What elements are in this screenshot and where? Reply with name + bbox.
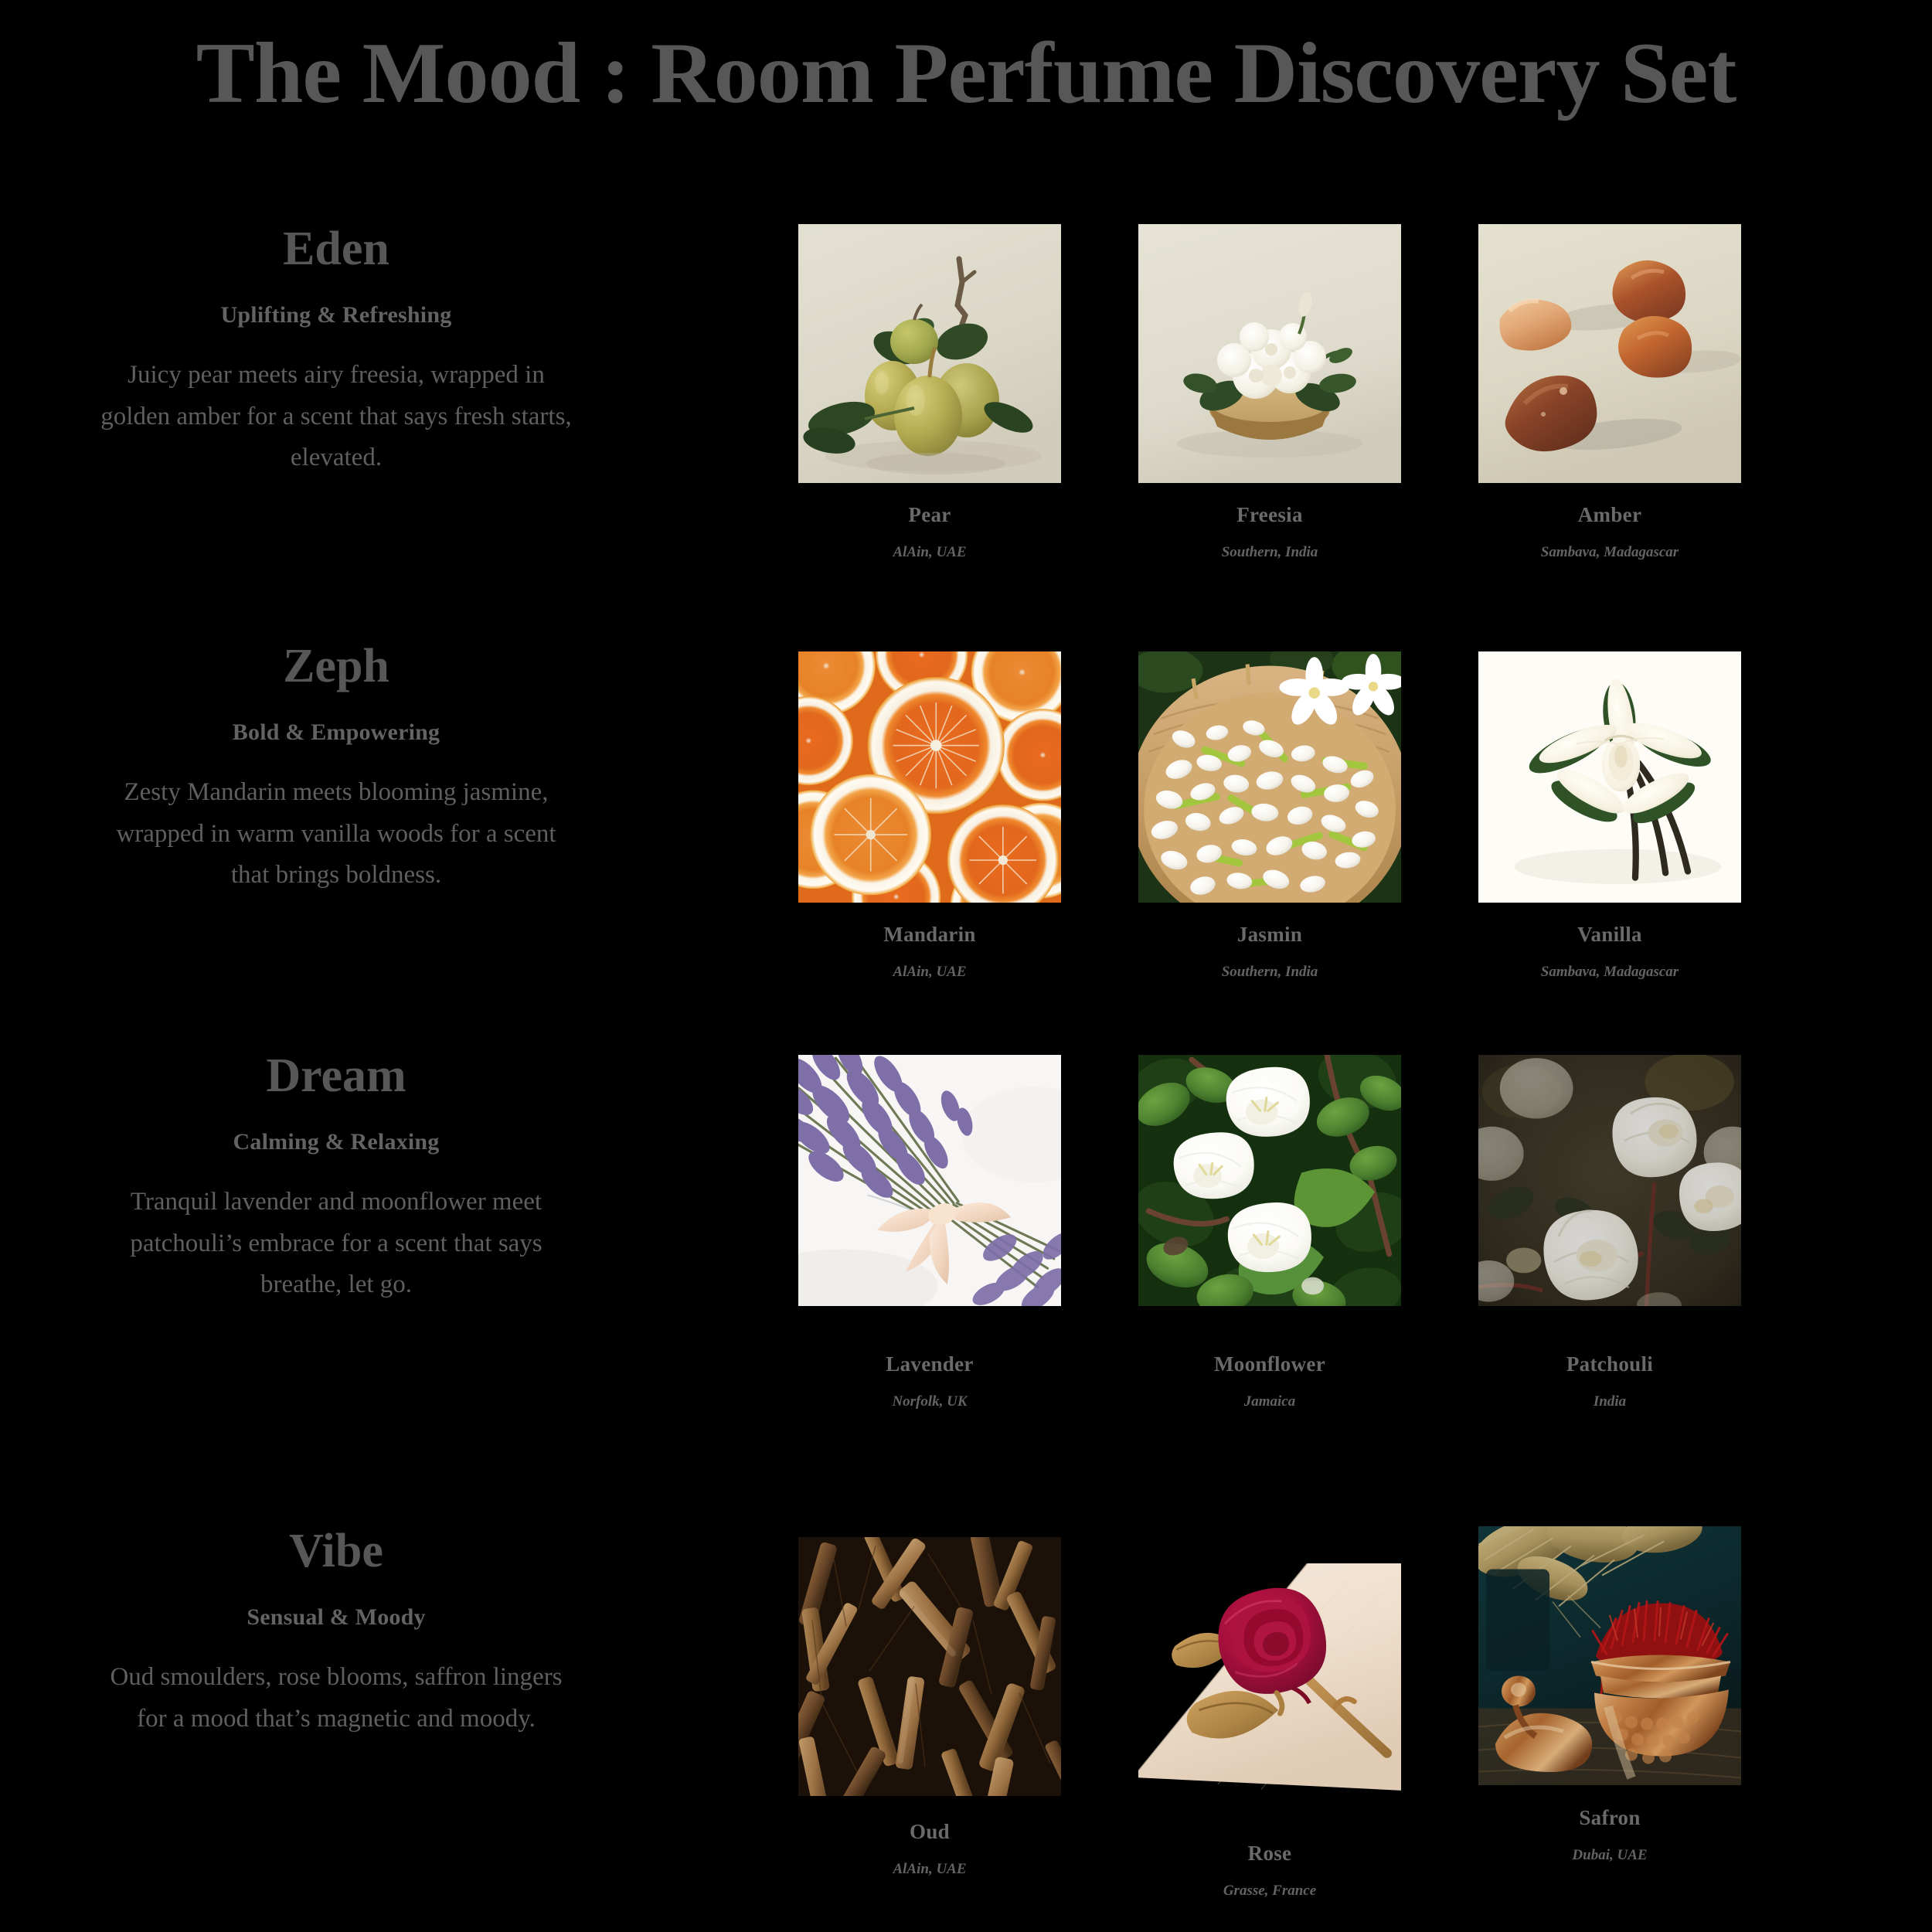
- white-freesia-bowl-photo: [1138, 224, 1401, 483]
- note-origin: AlAin, UAE: [798, 964, 1061, 981]
- note-image-vanilla: [1478, 651, 1741, 903]
- vanilla-orchid-pods-photo: [1478, 651, 1741, 903]
- red-rose-on-linen-photo: [1138, 1563, 1401, 1822]
- note-origin: Southern, India: [1138, 544, 1401, 561]
- note-name: Amber: [1478, 503, 1741, 527]
- mood-text-block: Eden Uplifting & Refreshing Juicy pear m…: [81, 224, 591, 478]
- note-image-rose: [1138, 1563, 1401, 1826]
- note-name: Jasmin: [1138, 923, 1401, 947]
- note-image-mandarin: [798, 651, 1061, 903]
- note-tile[interactable]: Vanilla Sambava, Madagascar: [1478, 651, 1741, 981]
- note-origin: AlAin, UAE: [798, 1861, 1061, 1878]
- orange-slices-photo: [798, 651, 1061, 903]
- note-name: Freesia: [1138, 503, 1401, 527]
- note-image-lavender: [798, 1055, 1061, 1306]
- note-origin: Sambava, Madagascar: [1478, 964, 1741, 981]
- saffron-copper-pot-photo: [1478, 1526, 1741, 1785]
- white-roses-moody-photo: [1478, 1055, 1741, 1306]
- note-tile[interactable]: Patchouli India: [1478, 1055, 1741, 1410]
- mood-description: Oud smoulders, rose blooms, saffron ling…: [81, 1657, 591, 1740]
- note-tile[interactable]: Moonflower Jamaica: [1138, 1055, 1401, 1410]
- note-image-amber: [1478, 224, 1741, 483]
- note-tile[interactable]: Lavender Norfolk, UK: [798, 1055, 1061, 1410]
- note-name: Pear: [798, 503, 1061, 527]
- note-origin: Dubai, UAE: [1478, 1847, 1741, 1864]
- note-origin: Jamaica: [1138, 1393, 1401, 1410]
- mood-text-block: Vibe Sensual & Moody Oud smoulders, rose…: [81, 1526, 591, 1740]
- note-name: Lavender: [798, 1352, 1061, 1376]
- note-name: Rose: [1138, 1842, 1401, 1866]
- note-image-oud: [798, 1537, 1061, 1800]
- note-tile[interactable]: Amber Sambava, Madagascar: [1478, 224, 1741, 561]
- note-tile[interactable]: Rose Grasse, France: [1138, 1563, 1401, 1900]
- note-origin: India: [1478, 1393, 1741, 1410]
- note-image-jasmin: [1138, 651, 1401, 903]
- note-name: Moonflower: [1138, 1352, 1401, 1376]
- note-name: Safron: [1478, 1806, 1741, 1830]
- page-title: The Mood : Room Perfume Discovery Set: [0, 22, 1932, 125]
- mood-tagline: Calming & Relaxing: [81, 1129, 591, 1155]
- white-moonflowers-foliage-photo: [1138, 1055, 1401, 1306]
- mood-name: Eden: [81, 224, 591, 274]
- note-origin: Sambava, Madagascar: [1478, 544, 1741, 561]
- pears-still-life-photo: [798, 224, 1061, 483]
- note-origin: Norfolk, UK: [798, 1393, 1061, 1410]
- note-tile[interactable]: Safron Dubai, UAE: [1478, 1526, 1741, 1864]
- mood-text-block: Zeph Bold & Empowering Zesty Mandarin me…: [81, 641, 591, 896]
- mood-description: Zesty Mandarin meets blooming jasmine, w…: [81, 772, 591, 896]
- note-image-freesia: [1138, 224, 1401, 483]
- note-tile[interactable]: Mandarin AlAin, UAE: [798, 651, 1061, 981]
- mood-description: Juicy pear meets airy freesia, wrapped i…: [81, 355, 591, 478]
- note-tile[interactable]: Freesia Southern, India: [1138, 224, 1401, 561]
- jasmine-buds-basket-photo: [1138, 651, 1401, 903]
- mood-name: Vibe: [81, 1526, 591, 1577]
- note-image-pear: [798, 224, 1061, 483]
- mood-name: Dream: [81, 1051, 591, 1101]
- note-tile[interactable]: Oud AlAin, UAE: [798, 1537, 1061, 1878]
- note-tile[interactable]: Jasmin Southern, India: [1138, 651, 1401, 981]
- note-name: Mandarin: [798, 923, 1061, 947]
- amber-resin-stones-photo: [1478, 224, 1741, 483]
- note-name: Oud: [798, 1820, 1061, 1844]
- note-image-moonflower: [1138, 1055, 1401, 1306]
- note-tile[interactable]: Pear AlAin, UAE: [798, 224, 1061, 561]
- mood-name: Zeph: [81, 641, 591, 692]
- note-name: Patchouli: [1478, 1352, 1741, 1376]
- note-origin: AlAin, UAE: [798, 544, 1061, 561]
- note-origin: Southern, India: [1138, 964, 1401, 981]
- lavender-bundle-ribbon-photo: [798, 1055, 1061, 1306]
- mood-tagline: Bold & Empowering: [81, 719, 591, 746]
- note-name: Vanilla: [1478, 923, 1741, 947]
- mood-text-block: Dream Calming & Relaxing Tranquil lavend…: [81, 1051, 591, 1305]
- mood-tagline: Sensual & Moody: [81, 1604, 591, 1631]
- note-image-patchouli: [1478, 1055, 1741, 1306]
- note-image-safron: [1478, 1526, 1741, 1789]
- oud-wood-chips-photo: [798, 1537, 1061, 1796]
- mood-description: Tranquil lavender and moonflower meet pa…: [81, 1182, 591, 1305]
- mood-tagline: Uplifting & Refreshing: [81, 302, 591, 328]
- note-origin: Grasse, France: [1138, 1883, 1401, 1900]
